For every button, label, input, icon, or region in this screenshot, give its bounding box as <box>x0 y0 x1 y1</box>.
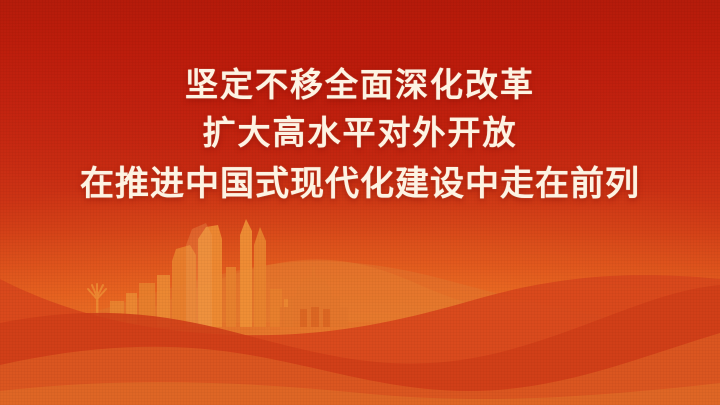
propaganda-banner: 坚定不移全面深化改革 扩大高水平对外开放 在推进中国式现代化建设中走在前列 <box>0 0 720 405</box>
headline-line-1: 坚定不移全面深化改革 <box>0 62 720 108</box>
headline-block: 坚定不移全面深化改革 扩大高水平对外开放 在推进中国式现代化建设中走在前列 <box>0 62 720 210</box>
scenery-illustration <box>0 205 720 405</box>
headline-line-2: 扩大高水平对外开放 <box>0 108 720 158</box>
headline-line-3: 在推进中国式现代化建设中走在前列 <box>0 158 720 210</box>
